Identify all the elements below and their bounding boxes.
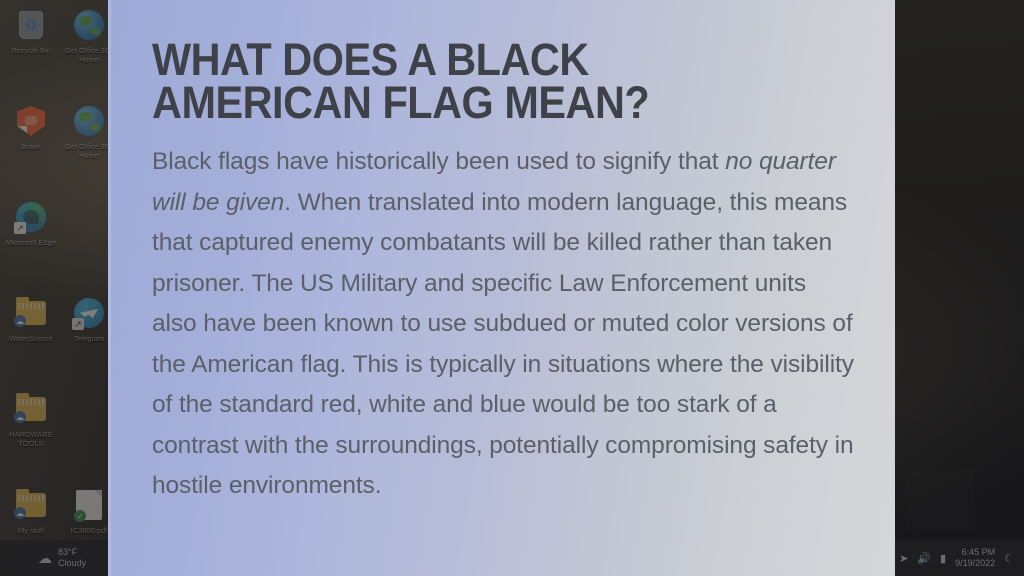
folder-icon [14,392,48,426]
clock-date: 9/19/2022 [955,558,995,568]
cloud-badge-icon [14,411,26,423]
shortcut-badge-icon [72,318,84,330]
desktop-icon-grid: Recycle BinGet Office 365 HomeBraveGet O… [4,2,116,576]
telegram-icon [72,296,106,330]
shortcut-badge-icon [15,126,27,138]
screen-root: Recycle BinGet Office 365 HomeBraveGet O… [0,0,1024,576]
moon-icon[interactable]: ☾ [1004,552,1014,565]
page-title: WHAT DOES A BLACK AMERICAN FLAG MEAN? [152,38,799,124]
desktop-icon-label: My stuff [4,526,58,535]
cloud-badge-icon [14,507,26,519]
battery-icon[interactable]: ▮ [940,552,946,565]
weather-condition: Cloudy [58,558,86,568]
cloud-icon: ☁ [38,550,52,567]
microsoft-edge-icon [14,200,48,234]
volume-icon[interactable]: 🔊 [917,552,931,565]
desktop-icon[interactable]: HARDWARE TOOLS [4,386,58,482]
desktop-icon-label: Recycle Bin [4,46,58,55]
globe-icon [72,104,106,138]
body-text-part-1: Black flags have historically been used … [152,148,725,175]
shortcut-badge-icon [14,222,26,234]
network-icon[interactable]: ➤ [899,552,908,565]
system-tray: ➤ 🔊 ▮ 6:45 PM 9/19/2022 ☾ [899,547,1024,569]
check-badge-icon [74,510,86,522]
taskbar-clock[interactable]: 6:45 PM 9/19/2022 [955,547,995,569]
cloud-badge-icon [14,315,26,327]
globe-icon [72,8,106,42]
desktop-icon-label: HARDWARE TOOLS [4,430,58,448]
desktop-icon-label: WaterSource [4,334,58,343]
taskbar-weather-widget[interactable]: ☁ 83°F Cloudy [0,547,86,569]
article-body-text: Black flags have historically been used … [152,142,855,507]
desktop-icon-label: Microsoft Edge [4,238,58,247]
folder-icon [14,488,48,522]
desktop-icon[interactable]: Brave [4,98,58,194]
weather-text: 83°F Cloudy [58,547,86,569]
recycle-bin-icon [14,8,48,42]
body-text-part-2: . When translated into modern language, … [152,189,854,500]
brave-browser-icon [14,104,48,138]
desktop-icon-label: Brave [4,142,58,151]
article-overlay-card: WHAT DOES A BLACK AMERICAN FLAG MEAN? Bl… [108,0,895,576]
desktop-icon[interactable]: WaterSource [4,290,58,386]
desktop-icon[interactable]: Microsoft Edge [4,194,58,290]
document-icon [72,488,106,522]
weather-temperature: 83°F [58,547,77,557]
desktop-icon[interactable]: Recycle Bin [4,2,58,98]
folder-icon [14,296,48,330]
clock-time: 6:45 PM [962,547,996,557]
